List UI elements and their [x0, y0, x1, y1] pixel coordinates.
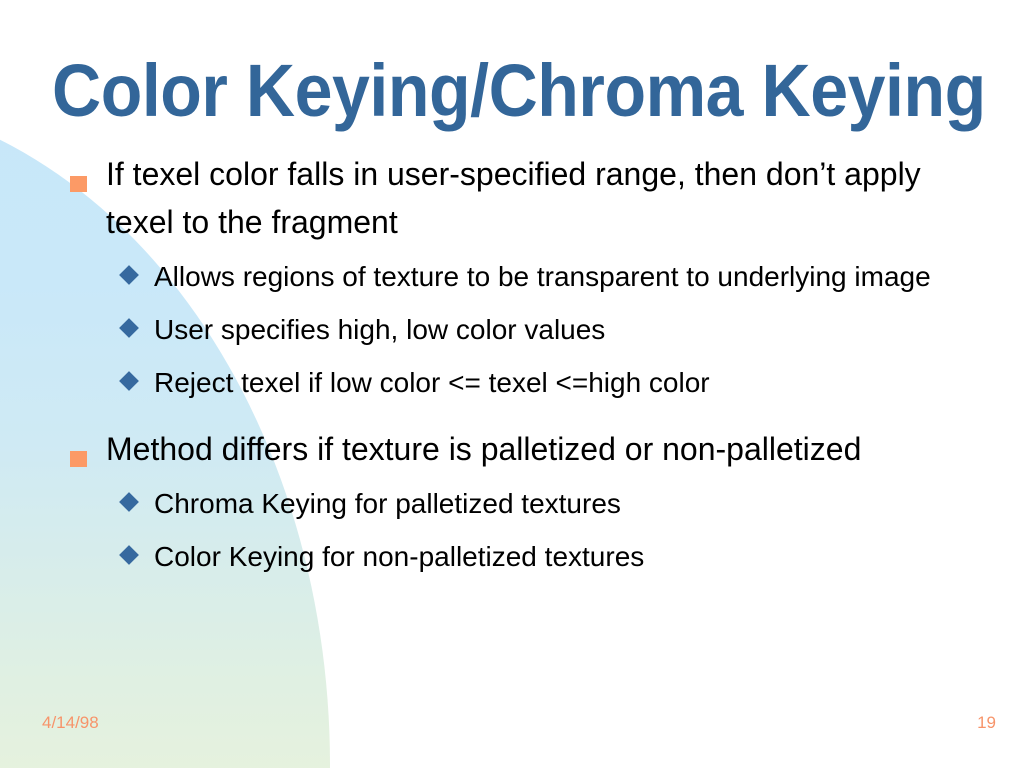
bullet-level2: Chroma Keying for palletized textures — [0, 481, 1024, 526]
bullet-level2: Allows regions of texture to be transpar… — [0, 254, 1024, 299]
bullet-level2: User specifies high, low color values — [0, 307, 1024, 352]
bullet-sublist: Allows regions of texture to be transpar… — [0, 254, 1024, 405]
square-bullet-icon — [70, 176, 87, 192]
bullet-sublist: Chroma Keying for palletized textures Co… — [0, 481, 1024, 579]
bullet-level2-text: Allows regions of texture to be transpar… — [154, 261, 931, 292]
slide-body: If texel color falls in user-specified r… — [0, 150, 1024, 579]
bullet-level2-text: Color Keying for non-palletized textures — [154, 541, 644, 572]
footer-date: 4/14/98 — [42, 713, 99, 733]
bullet-level1: If texel color falls in user-specified r… — [0, 150, 1024, 246]
bullet-level1-text: If texel color falls in user-specified r… — [106, 156, 921, 240]
diamond-bullet-icon — [119, 545, 139, 565]
diamond-bullet-icon — [119, 318, 139, 338]
slide: Color Keying/Chroma Keying If texel colo… — [0, 0, 1024, 768]
bullet-level2: Reject texel if low color <= texel <=hig… — [0, 360, 1024, 405]
square-bullet-icon — [70, 451, 87, 467]
diamond-bullet-icon — [119, 371, 139, 391]
bullet-group-spacer — [0, 405, 1024, 425]
bullet-level2-text: User specifies high, low color values — [154, 314, 605, 345]
bullet-level2-text: Reject texel if low color <= texel <=hig… — [154, 367, 710, 398]
diamond-bullet-icon — [119, 265, 139, 285]
footer-page-number: 19 — [977, 713, 996, 733]
bullet-level2-text: Chroma Keying for palletized textures — [154, 488, 621, 519]
diamond-bullet-icon — [119, 492, 139, 512]
bullet-level1-text: Method differs if texture is palletized … — [106, 431, 861, 467]
bullet-level1: Method differs if texture is palletized … — [0, 425, 1024, 473]
slide-title: Color Keying/Chroma Keying — [52, 52, 898, 130]
bullet-level2: Color Keying for non-palletized textures — [0, 534, 1024, 579]
